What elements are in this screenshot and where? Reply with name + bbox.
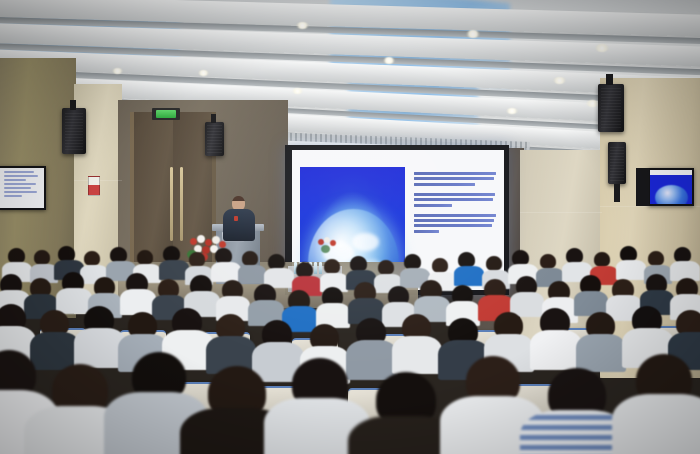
wall-seam — [520, 212, 602, 213]
audience-head — [189, 252, 205, 267]
monitor-text-line — [4, 183, 36, 185]
right-monitor-housing — [636, 168, 649, 206]
audience-head — [137, 250, 153, 265]
audience-body — [576, 334, 626, 372]
slide-paragraph — [414, 172, 496, 186]
audience-head — [84, 251, 100, 266]
audience-body — [346, 340, 398, 380]
audience-body — [616, 260, 646, 280]
audience-body — [612, 394, 700, 454]
slide-text-line — [414, 224, 492, 227]
speaker-mount — [70, 100, 76, 110]
audience-head — [378, 260, 394, 275]
audience-body — [211, 262, 241, 282]
wall-speaker-right — [608, 142, 626, 184]
audience-head — [324, 259, 340, 274]
audience-body — [392, 336, 442, 374]
slide-paragraph — [414, 193, 496, 207]
slide-text-line — [414, 204, 452, 207]
monitor-text-line — [4, 175, 38, 177]
audience-head — [594, 252, 610, 267]
downlight — [112, 68, 123, 74]
downlight — [506, 108, 518, 114]
monitor-globe-graphic — [655, 185, 688, 204]
downlight — [466, 30, 480, 38]
downlight — [383, 57, 395, 64]
auditorium-photo — [0, 0, 700, 454]
monitor-text-line — [4, 195, 22, 197]
door-handle[interactable] — [180, 167, 183, 241]
ceiling-speaker-center — [205, 122, 224, 156]
seated-audience — [0, 232, 700, 454]
door-handle[interactable] — [170, 167, 173, 241]
exit-sign — [152, 108, 180, 120]
downlight — [553, 77, 566, 84]
downlight — [198, 70, 209, 76]
downlight — [595, 44, 609, 52]
monitor-text-line — [4, 191, 37, 193]
speaker-mount — [606, 74, 613, 85]
monitor-text-line — [4, 179, 26, 181]
fire-extinguisher-sign — [88, 176, 100, 196]
speaker-mount — [211, 114, 216, 123]
ceiling-speaker-left — [62, 108, 86, 154]
presenter-badge — [234, 216, 238, 221]
downlight — [296, 22, 309, 29]
audience-head — [242, 251, 258, 266]
audience-body — [454, 266, 484, 286]
audience-head — [34, 250, 50, 265]
ceiling-speaker-right — [598, 84, 624, 132]
speaker-mount — [614, 184, 620, 202]
right-monitor-screen — [650, 170, 692, 204]
audience-head — [648, 251, 664, 266]
slide-text-line — [414, 172, 496, 175]
downlight — [292, 88, 303, 94]
audience-body — [238, 265, 266, 284]
audience-body — [530, 330, 582, 370]
wall-seam — [600, 206, 700, 207]
slide-body-text — [414, 172, 496, 240]
slide-text-line — [414, 193, 495, 196]
monitor-text-line — [4, 187, 31, 189]
right-wall-monitor — [648, 168, 694, 206]
slide-paragraph — [414, 214, 496, 233]
left-wall-monitor — [0, 166, 46, 210]
audience-head — [486, 256, 502, 271]
slide-text-line — [414, 219, 494, 222]
audience-head — [432, 258, 448, 273]
audience-body — [120, 289, 156, 315]
slide-text-line — [414, 183, 475, 186]
slide-text-line — [414, 177, 494, 180]
slide-text-line — [414, 214, 496, 217]
right-monitor-content — [650, 170, 692, 204]
left-monitor-screen — [0, 168, 44, 208]
slide-text-line — [414, 198, 493, 201]
left-monitor-content — [0, 168, 44, 208]
monitor-text-line — [4, 171, 34, 173]
exit-sign-glow — [156, 110, 176, 118]
audience-head — [540, 254, 556, 269]
